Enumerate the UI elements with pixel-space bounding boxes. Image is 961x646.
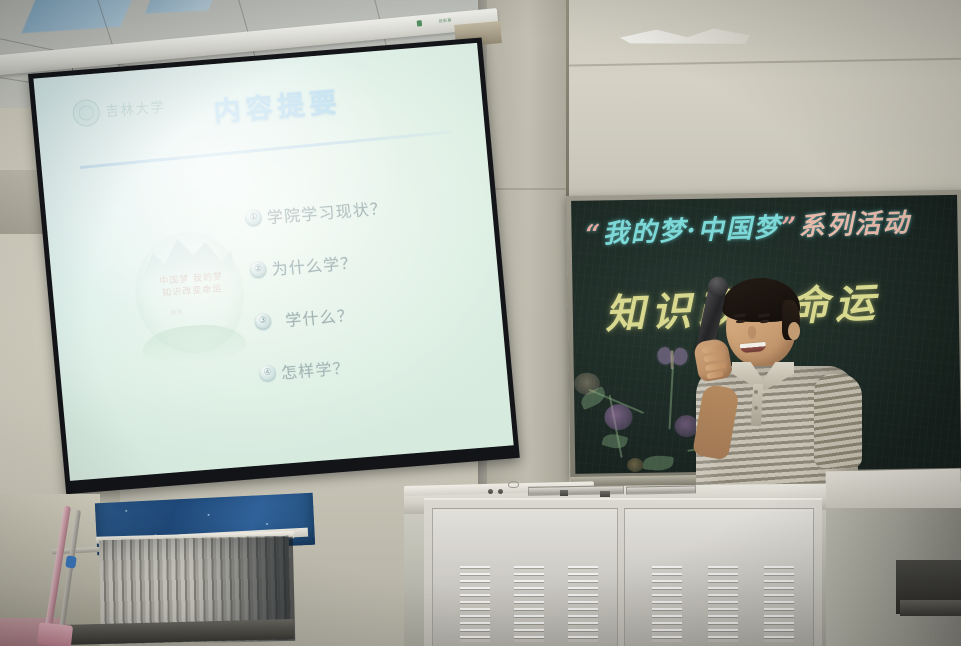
mop-head (37, 622, 73, 646)
blackboard-headline-tail: 系列活动 (798, 208, 911, 242)
slide-decorative-artwork: 中国梦 我的梦 知识改变命运 励志 (123, 217, 257, 386)
mop-grip (65, 555, 77, 568)
blackboard-headline-a: 我的梦 (602, 216, 687, 249)
ceiling-skylight-reflection (21, 0, 134, 33)
right-desk-shelf (900, 600, 961, 616)
bullet-number-3: ③ (254, 312, 272, 330)
equipment-cabinet[interactable] (424, 498, 822, 646)
cabinet-pull-ring[interactable] (508, 481, 519, 488)
cabinet-vent (652, 566, 682, 642)
cabinet-screw-2 (498, 489, 503, 494)
slide-bullet-list: ① 学院学习现状？ ② 为什么学？ ③ 学什么？ ④ 怎样学？ (243, 174, 491, 400)
bullet-number-4: ④ (258, 364, 276, 382)
bullet-number-2: ② (249, 260, 267, 278)
speaker-ear (788, 322, 800, 340)
cabinet-vent (460, 566, 490, 642)
cabinet-latch-bar-2[interactable] (626, 485, 696, 494)
bullet-text-2: 为什么学？ (271, 249, 359, 280)
bullet-text-4: 怎样学？ (280, 354, 351, 383)
slide-title: 内容提要 (36, 69, 483, 144)
blackboard-quote-close: ” (781, 212, 799, 243)
bullet-text-3: 学什么？ (275, 302, 355, 332)
housing-brand-icon (417, 20, 423, 26)
blackboard-headline-b: 中国梦 (697, 213, 782, 246)
cabinet-vent (514, 566, 544, 642)
artwork-caption-sub: 励志 (171, 308, 184, 316)
cabinet-vent (764, 566, 794, 642)
cabinet-hinge (600, 491, 610, 497)
bullet-number-1: ① (244, 208, 262, 226)
wall-seam-vertical (566, 0, 569, 212)
projection-screen[interactable]: 吉林大学 内容提要 中国梦 我的梦 知识改变命运 励志 ① 学院学习现状？ (28, 38, 520, 495)
bullet-text-1: 学院学习现状？ (266, 195, 388, 229)
speaker-nose (748, 326, 756, 339)
cabinet-vent (568, 566, 598, 642)
cabinet-vent (708, 566, 738, 642)
classroom-scene: “我的梦·中国梦”系列活动 知识改变命运 (0, 0, 961, 646)
cabinet-lock-icon[interactable] (560, 490, 568, 496)
speaker-hand (693, 337, 733, 382)
blackboard-quote-open: “ (585, 219, 603, 250)
slide-surface: 吉林大学 内容提要 中国梦 我的梦 知识改变命运 励志 ① 学院学习现状？ (33, 43, 513, 481)
shirt-sleeve-right (814, 374, 862, 468)
slide-title-divider (80, 130, 453, 169)
cabinet-screw (488, 489, 493, 494)
shirt-button (754, 406, 758, 410)
ceiling-skylight-reflection-2 (145, 0, 217, 14)
wall-seam-horizontal-2 (487, 188, 567, 190)
housing-label: 投影幕 (439, 17, 452, 24)
shirt-button (754, 390, 758, 394)
